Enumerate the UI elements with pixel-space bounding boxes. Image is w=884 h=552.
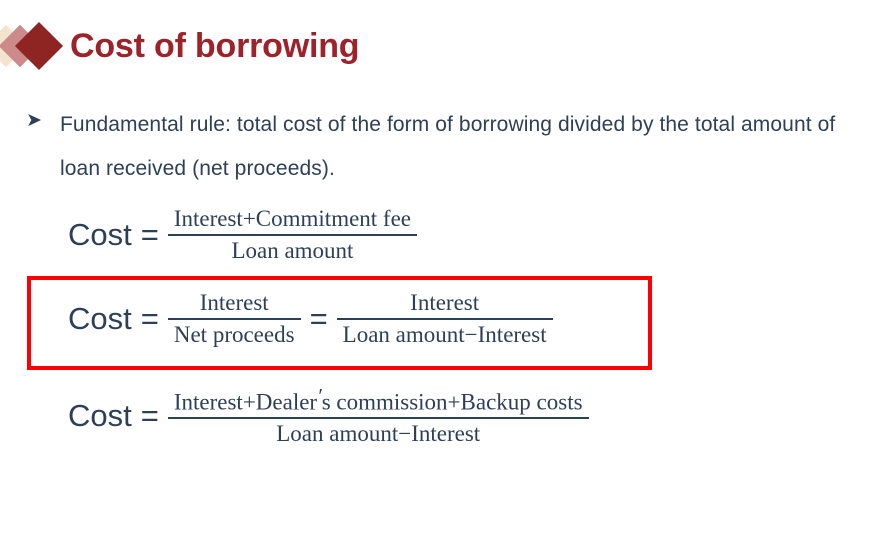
page-title: Cost of borrowing xyxy=(70,29,359,63)
equation-3-fraction-bar xyxy=(168,417,589,419)
equation-2-equals-sign: = xyxy=(132,303,168,334)
equation-1-numerator: Interest+Commitment fee xyxy=(168,206,417,232)
equation-3-numerator-post: s commission+Backup costs xyxy=(322,389,583,414)
equation-2-fraction-bar-2 xyxy=(337,318,553,320)
equation-2-fraction-bar xyxy=(168,318,301,320)
equation-3-equals-sign: = xyxy=(132,400,168,431)
equation-2-denominator: Net proceeds xyxy=(168,322,301,348)
equation-2-fraction-left: Interest Net proceeds xyxy=(168,290,301,348)
body-content: ➤ Fundamental rule: total cost of the fo… xyxy=(26,103,856,191)
bullet-list-item: ➤ Fundamental rule: total cost of the fo… xyxy=(26,103,856,191)
equation-2-equals-sign-2: = xyxy=(301,303,337,334)
equation-2-denominator-2: Loan amount−Interest xyxy=(337,322,553,348)
equation-1-equals-sign: = xyxy=(132,219,168,250)
slide-canvas: Cost of borrowing ➤ Fundamental rule: to… xyxy=(0,0,884,552)
equation-3-fraction: Interest+Dealer′s commission+Backup cost… xyxy=(168,385,589,447)
equation-3-numerator: Interest+Dealer′s commission+Backup cost… xyxy=(168,385,589,415)
equation-2-numerator: Interest xyxy=(194,290,275,316)
equation-cost-dealer-commission: Cost = Interest+Dealer′s commission+Back… xyxy=(68,385,589,447)
arrow-bullet-icon: ➤ xyxy=(26,103,60,139)
diamond-cluster-icon xyxy=(0,20,70,72)
equation-3-numerator-pre: Interest+Dealer xyxy=(174,389,317,414)
equation-3-denominator: Loan amount−Interest xyxy=(270,421,486,447)
bullet-item-text: Fundamental rule: total cost of the form… xyxy=(60,103,856,191)
equation-2-numerator-2: Interest xyxy=(404,290,485,316)
equation-1-lhs: Cost xyxy=(68,219,132,250)
slide-title-row: Cost of borrowing xyxy=(0,18,359,74)
equation-cost-net-proceeds: Cost = Interest Net proceeds = Interest … xyxy=(68,290,553,348)
equation-1-denominator: Loan amount xyxy=(225,238,359,264)
equation-2-lhs: Cost xyxy=(68,303,132,334)
equation-3-lhs: Cost xyxy=(68,400,132,431)
equation-1-fraction-bar xyxy=(168,234,417,236)
equation-2-fraction-right: Interest Loan amount−Interest xyxy=(337,290,553,348)
equation-1-fraction: Interest+Commitment fee Loan amount xyxy=(168,206,417,264)
equation-cost-commitment-fee: Cost = Interest+Commitment fee Loan amou… xyxy=(68,206,417,264)
